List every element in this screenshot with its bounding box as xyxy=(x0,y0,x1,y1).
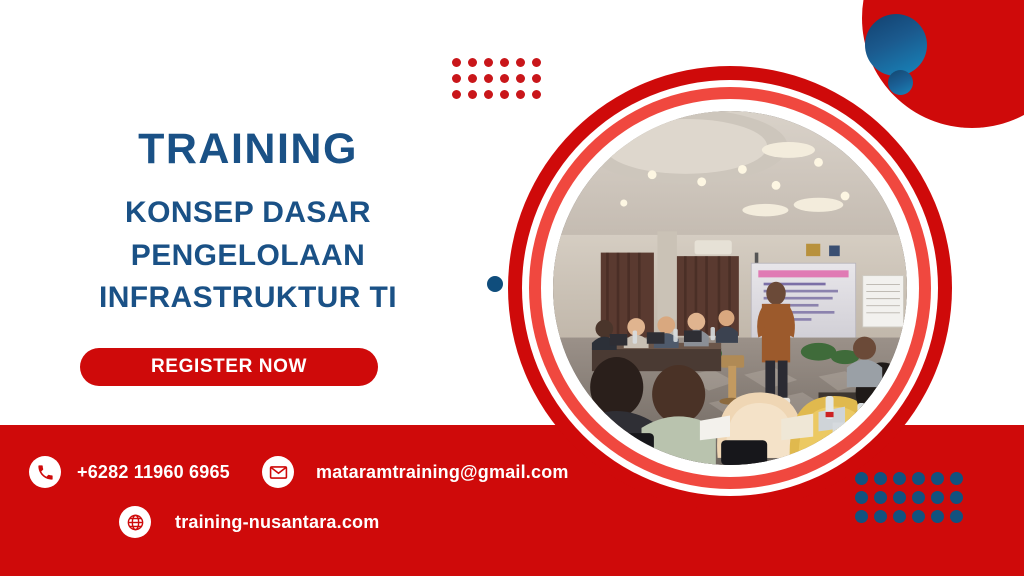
dot xyxy=(468,90,477,99)
subtitle-line-2: PENGELOLAAN xyxy=(38,235,458,278)
dot xyxy=(855,472,868,485)
dot xyxy=(912,491,925,504)
subtitle-block: KONSEP DASAR PENGELOLAAN INFRASTRUKTUR T… xyxy=(38,192,458,320)
contact-phone-label: +6282 11960 6965 xyxy=(77,462,230,483)
dot xyxy=(452,90,461,99)
dot xyxy=(874,491,887,504)
dot xyxy=(893,491,906,504)
dot xyxy=(516,90,525,99)
dot xyxy=(931,510,944,523)
frame-ring-white-inner xyxy=(541,99,919,477)
globe-icon xyxy=(119,506,151,538)
dot xyxy=(532,58,541,67)
dot xyxy=(893,510,906,523)
dot xyxy=(484,90,493,99)
dot xyxy=(468,74,477,83)
contact-email[interactable]: mataramtraining@gmail.com xyxy=(262,456,569,488)
dot xyxy=(516,58,525,67)
dot xyxy=(500,58,509,67)
red-dot-grid-decoration xyxy=(452,58,541,99)
contact-phone[interactable]: +6282 11960 6965 xyxy=(29,456,230,488)
blue-dot-decoration xyxy=(487,276,503,292)
subtitle-line-3: INFRASTRUKTUR TI xyxy=(38,277,458,320)
dot xyxy=(893,472,906,485)
dot xyxy=(855,510,868,523)
blue-circle-large-decoration xyxy=(865,14,927,76)
contact-website[interactable]: training-nusantara.com xyxy=(119,506,379,538)
dot xyxy=(452,58,461,67)
dot xyxy=(874,510,887,523)
seminar-photo-illustration xyxy=(553,111,907,465)
contact-email-label: mataramtraining@gmail.com xyxy=(316,462,569,483)
dot xyxy=(500,90,509,99)
dot xyxy=(950,472,963,485)
subtitle-line-1: KONSEP DASAR xyxy=(38,192,458,235)
dot xyxy=(874,472,887,485)
dot xyxy=(484,74,493,83)
dot xyxy=(500,74,509,83)
blue-dot-grid-decoration xyxy=(855,472,963,523)
dot xyxy=(931,472,944,485)
register-now-button[interactable]: REGISTER NOW xyxy=(80,348,378,386)
page-title: TRAINING xyxy=(38,128,458,171)
photo-circle xyxy=(553,111,907,465)
email-icon xyxy=(262,456,294,488)
dot xyxy=(950,510,963,523)
dot xyxy=(912,472,925,485)
dot xyxy=(484,58,493,67)
dot xyxy=(532,74,541,83)
frame-ring-salmon xyxy=(529,87,931,489)
phone-icon xyxy=(29,456,61,488)
dot xyxy=(516,74,525,83)
dot xyxy=(912,510,925,523)
dot xyxy=(532,90,541,99)
dot xyxy=(468,58,477,67)
frame-ring-white-outer xyxy=(522,80,938,496)
blue-circle-small-decoration xyxy=(888,70,913,95)
dot xyxy=(950,491,963,504)
dot xyxy=(931,491,944,504)
dot xyxy=(452,74,461,83)
dot xyxy=(855,491,868,504)
contact-website-label: training-nusantara.com xyxy=(175,512,379,533)
photo-circle-frame xyxy=(508,66,952,510)
